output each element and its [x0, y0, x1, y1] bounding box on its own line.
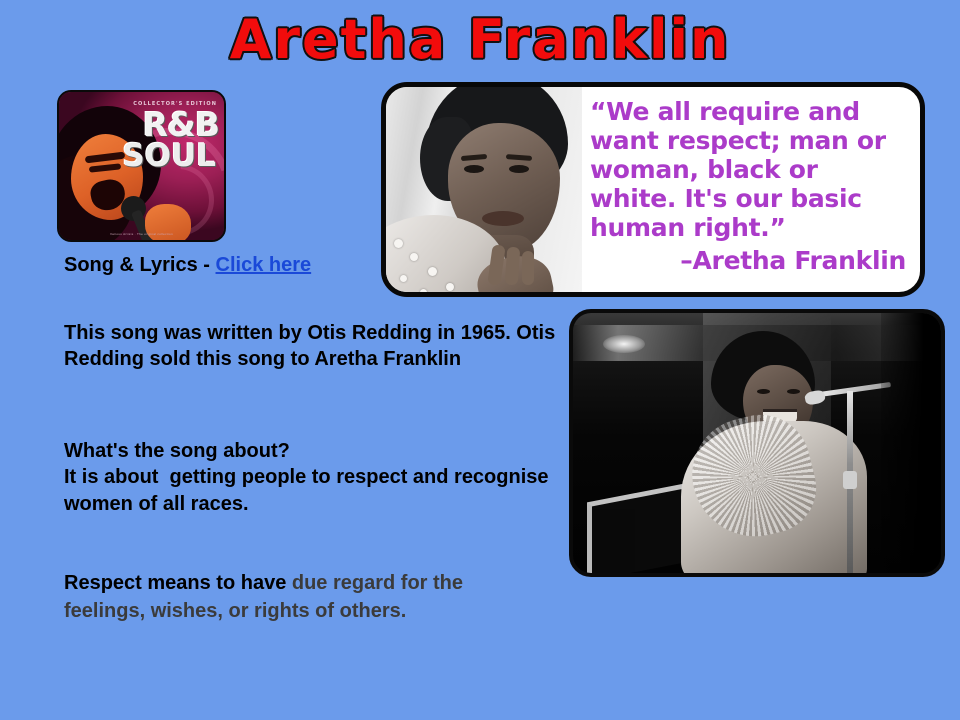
performance-singer-eye-left [757, 389, 770, 394]
portrait-finger [522, 251, 534, 285]
click-here-link[interactable]: Click here [216, 254, 312, 276]
performance-photo-vignette [881, 313, 941, 577]
portrait-bead [428, 267, 437, 276]
aretha-performance-photo [569, 309, 945, 577]
song-about-answer: It is about getting people to respect an… [64, 464, 574, 517]
quote-attribution: –Aretha Franklin [590, 246, 908, 275]
portrait-bead [420, 289, 427, 292]
portrait-eye-left [464, 165, 484, 173]
quote-body: “We all require and want respect; man or… [590, 97, 908, 242]
album-art-singer-hand [145, 204, 191, 242]
performance-singer-eye-right [787, 389, 800, 394]
song-lyrics-line: Song & Lyrics - Click here [64, 254, 311, 277]
portrait-lips [482, 211, 524, 226]
album-art-title-line1: R&B [143, 110, 219, 140]
portrait-eye-right [509, 165, 529, 173]
presentation-slide: Aretha Franklin COLLECTOR'S EDITION R&B … [0, 0, 960, 720]
paragraph-respect-definition: Respect means to have due regard for the… [64, 570, 464, 625]
performance-stage-light [603, 335, 645, 353]
portrait-bead [410, 253, 418, 261]
portrait-bead [446, 283, 454, 291]
quote-card: “We all require and want respect; man or… [381, 82, 925, 297]
paragraph-song-origin: This song was written by Otis Redding in… [64, 320, 574, 373]
song-lyrics-label: Song & Lyrics - [64, 254, 216, 276]
performance-microphone-clamp [843, 471, 857, 489]
paragraph-song-meaning: What's the song about? It is about getti… [64, 438, 574, 517]
portrait-bead [394, 239, 403, 248]
album-art-title-line2: SOUL [122, 142, 216, 171]
portrait-bead [400, 275, 407, 282]
song-about-question: What's the song about? [64, 438, 574, 464]
album-art-fine-print: Various Artists · The original collectio… [110, 232, 173, 236]
definition-lead: Respect means to have [64, 572, 292, 594]
portrait-finger [505, 247, 521, 286]
quote-text-area: “We all require and want respect; man or… [582, 87, 920, 292]
aretha-portrait-photo [386, 87, 582, 292]
album-art-thumbnail: COLLECTOR'S EDITION R&B SOUL Various Art… [57, 90, 226, 242]
slide-title: Aretha Franklin [0, 8, 960, 71]
